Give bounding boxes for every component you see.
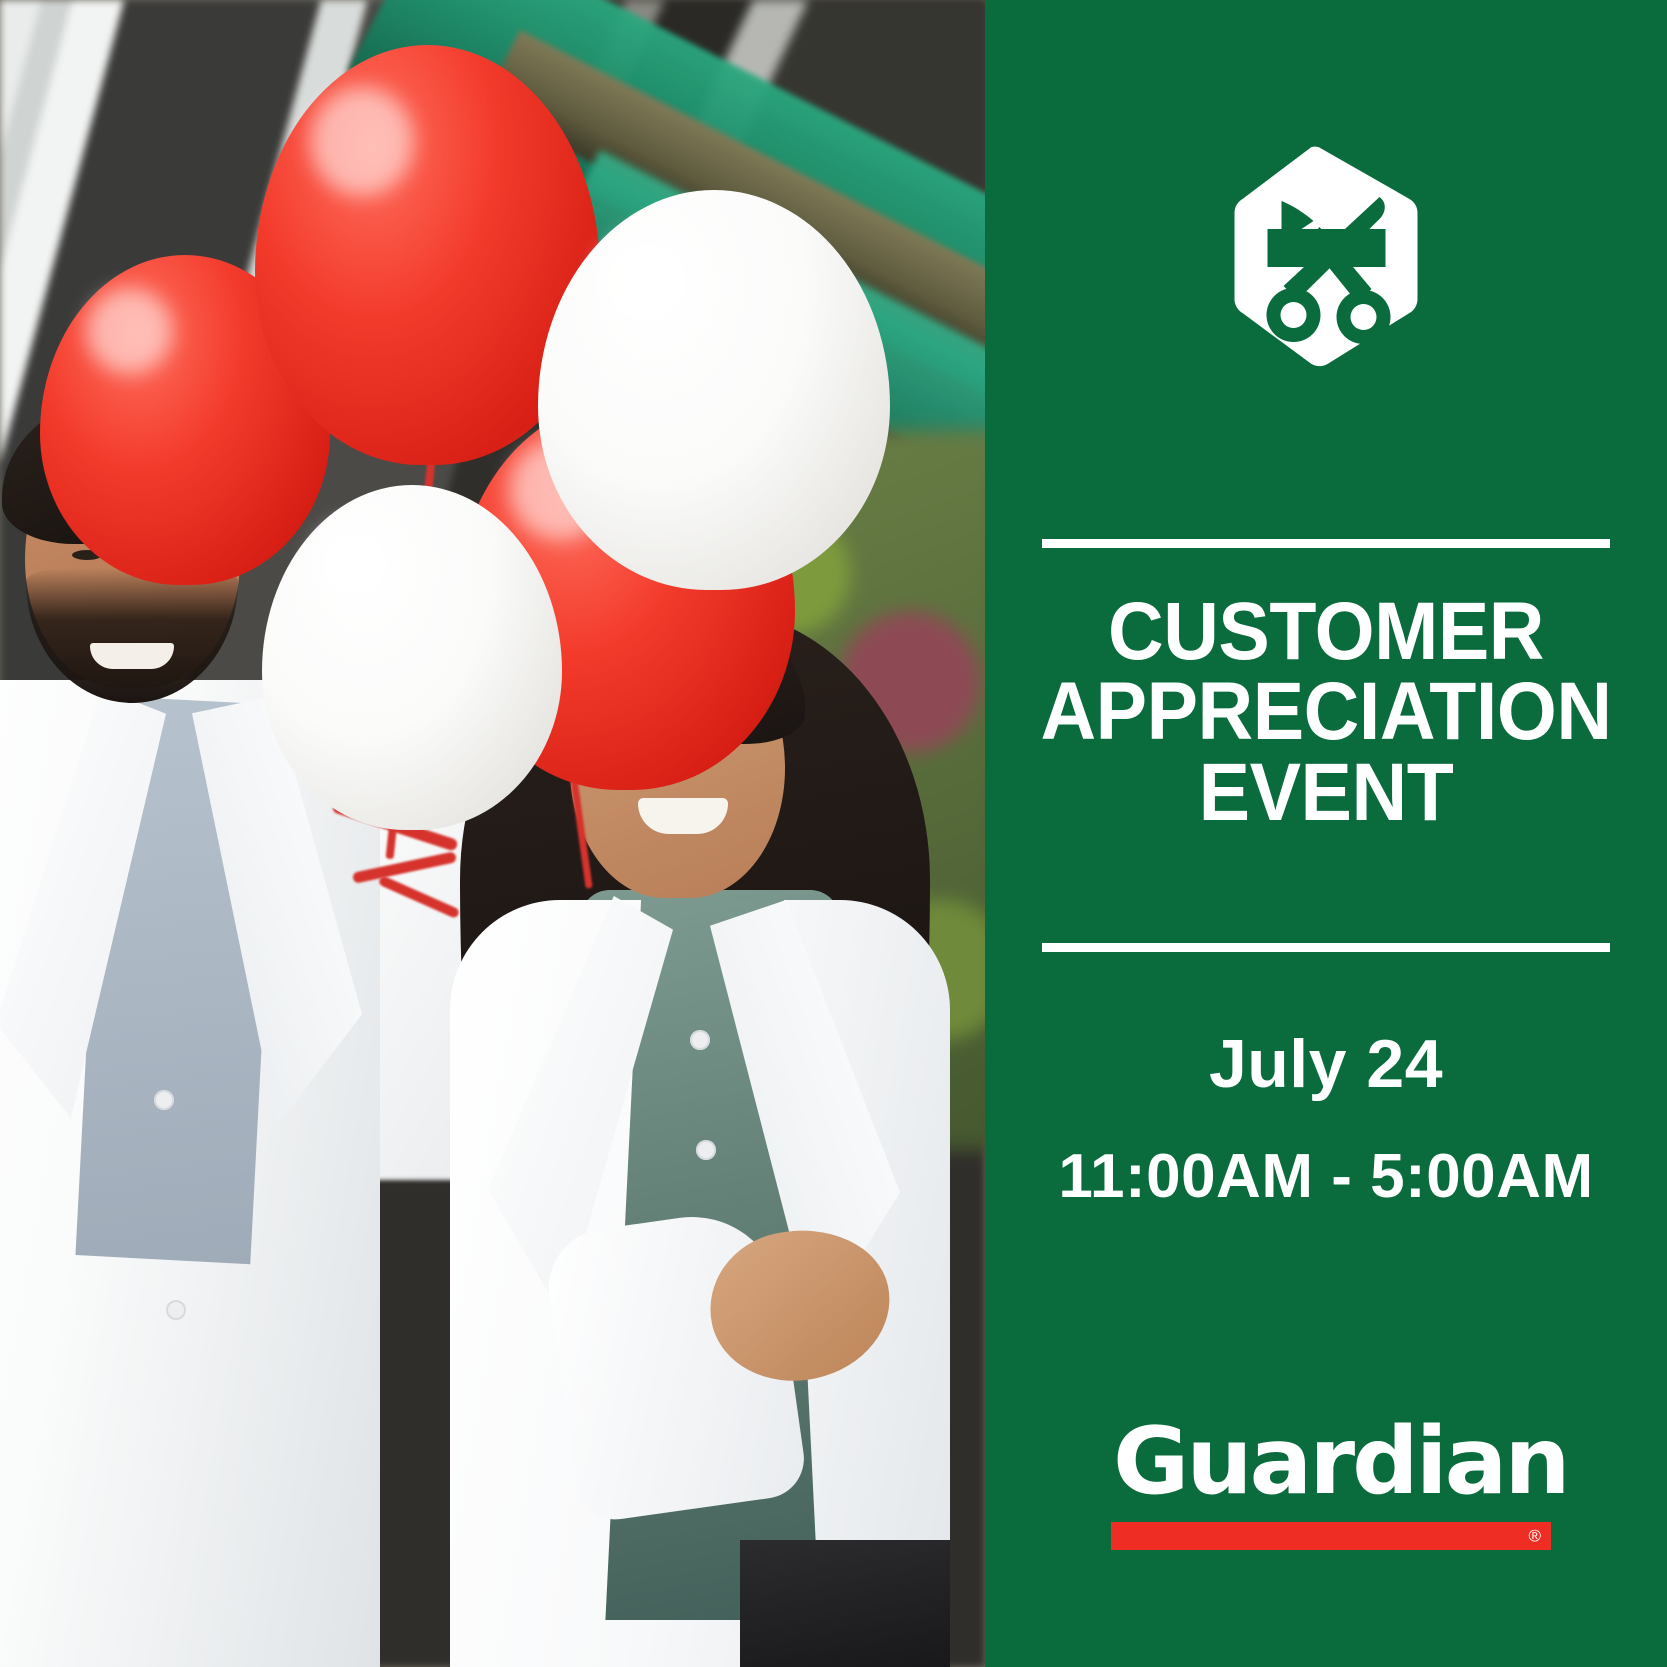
woman-blouse-button (696, 1140, 716, 1160)
hero-photo (0, 0, 985, 1667)
ribbon-cutting-scissors-hexagon-icon (1224, 145, 1429, 367)
divider-top (1042, 539, 1610, 548)
man-smile (90, 643, 174, 669)
info-panel: CUSTOMER APPRECIATION EVENT July 24 11:0… (985, 0, 1667, 1667)
man-coat-button (166, 1300, 186, 1320)
guardian-logo: Guardian ® (1111, 1415, 1551, 1550)
divider-bottom (1042, 943, 1610, 952)
logo-red-bar: ® (1111, 1522, 1551, 1550)
headline-line-2: APPRECIATION (1034, 672, 1619, 752)
headline-line-3: EVENT (1034, 753, 1619, 833)
man-coat-button (154, 1090, 174, 1110)
event-time: 11:00AM - 5:00AM (1015, 1141, 1637, 1212)
woman-smile (638, 798, 728, 834)
registered-trademark-icon: ® (1528, 1528, 1541, 1545)
event-date: July 24 (1015, 1025, 1637, 1103)
page-title: CUSTOMER APPRECIATION EVENT (1034, 592, 1619, 833)
woman-trousers (740, 1540, 950, 1667)
headline-line-1: CUSTOMER (1034, 592, 1619, 672)
guardian-wordmark: Guardian (1111, 1415, 1551, 1508)
woman-blouse-button (690, 1030, 710, 1050)
poster-canvas: CUSTOMER APPRECIATION EVENT July 24 11:0… (0, 0, 1667, 1667)
